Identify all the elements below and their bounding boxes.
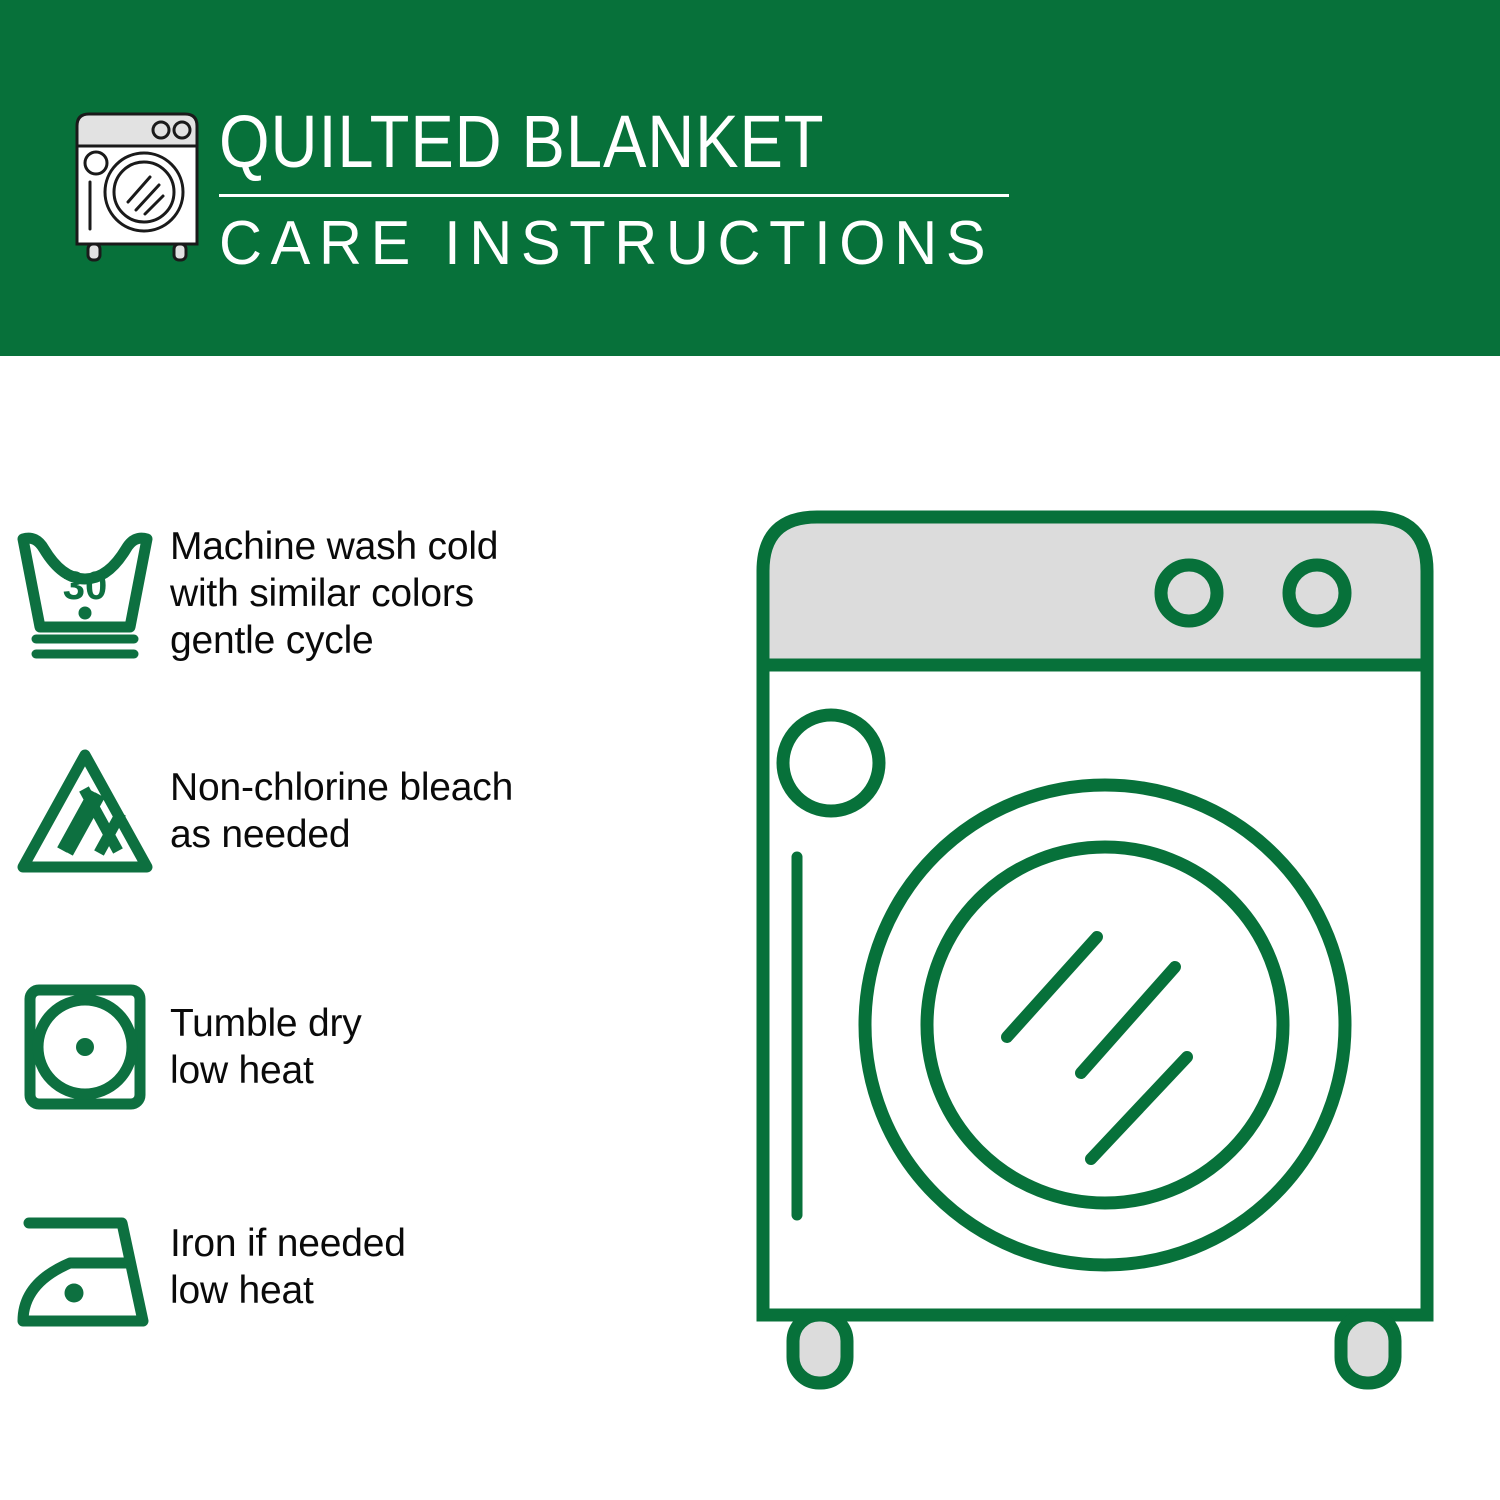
leg	[793, 1315, 847, 1383]
non-chlorine-bleach-triangle-icon	[0, 741, 170, 881]
wash-temperature-label: 30	[63, 564, 108, 608]
control-panel	[763, 517, 1427, 665]
care-instruction-list: 30 Machine wash cold with similar colors…	[0, 356, 740, 1500]
iron-low-heat-icon	[0, 1197, 170, 1337]
washing-machine-icon	[62, 104, 212, 264]
care-instruction-label: Non-chlorine bleach as needed	[170, 764, 513, 858]
page-title: QUILTED BLANKET	[219, 100, 1011, 184]
care-instruction-item: Tumble dry low heat	[0, 962, 740, 1132]
leg	[1341, 1315, 1395, 1383]
header-banner: QUILTED BLANKET CARE INSTRUCTIONS	[0, 0, 1500, 356]
care-instruction-label: Tumble dry low heat	[170, 1000, 362, 1094]
care-instruction-item: 30 Machine wash cold with similar colors…	[0, 508, 740, 678]
machine-wash-30-gentle-icon: 30	[0, 523, 170, 663]
care-instruction-item: Iron if needed low heat	[0, 1182, 740, 1352]
care-instructions-page: QUILTED BLANKET CARE INSTRUCTIONS 30	[0, 0, 1500, 1500]
care-instruction-label: Machine wash cold with similar colors ge…	[170, 523, 498, 664]
header-text-block: QUILTED BLANKET CARE INSTRUCTIONS	[219, 100, 1119, 279]
large-washing-machine-illustration	[745, 505, 1445, 1405]
page-subtitle: CARE INSTRUCTIONS	[219, 209, 1083, 279]
care-instruction-label: Iron if needed low heat	[170, 1220, 406, 1314]
tumble-dry-low-heat-icon	[0, 977, 170, 1117]
care-instruction-item: Non-chlorine bleach as needed	[0, 726, 740, 896]
title-divider	[219, 194, 1009, 197]
